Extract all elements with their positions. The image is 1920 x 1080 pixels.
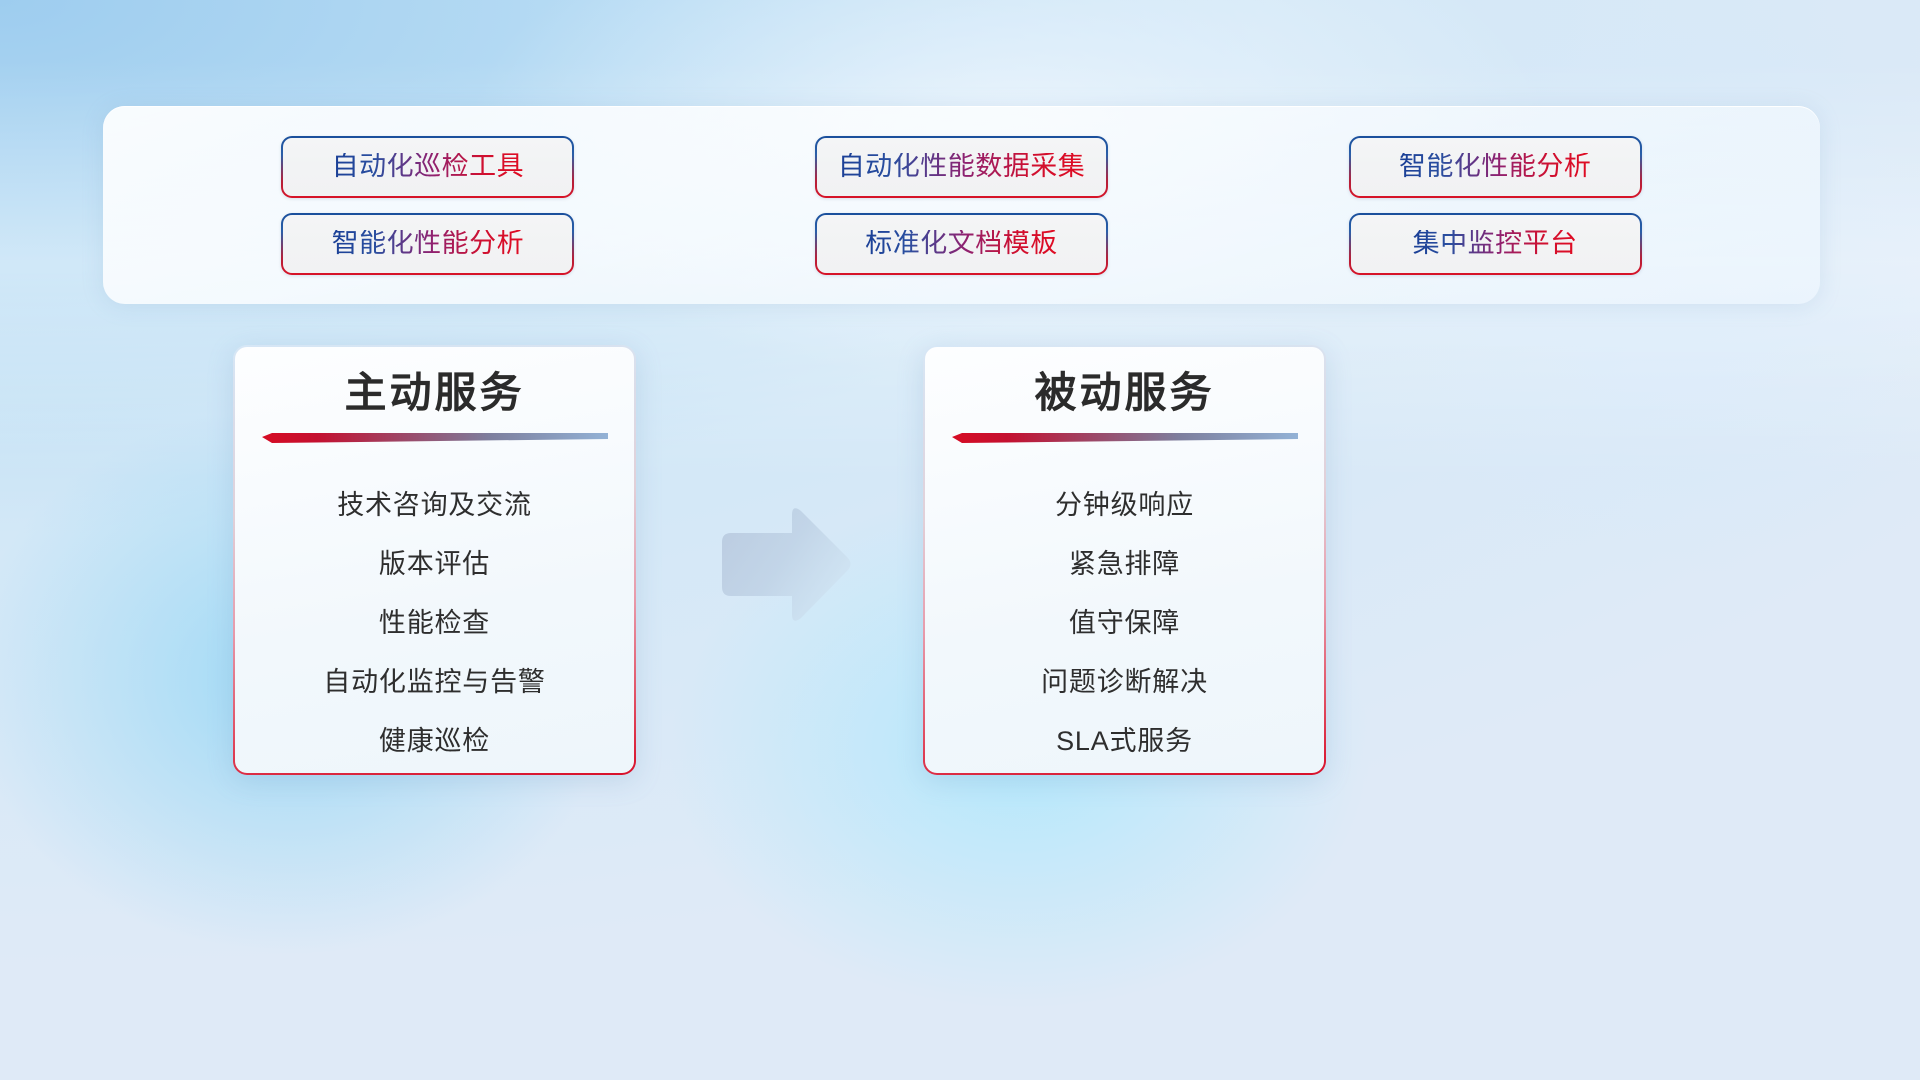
passive-service-list-item-2[interactable]: 紧急排障 <box>1069 532 1180 591</box>
active-service-card[interactable]: 主动服务 技术咨询及交流 版本评估 性能检查 自动化监控与告警 <box>233 345 636 775</box>
capability-pill-5-label: 标准化文档模板 <box>865 230 1058 257</box>
capability-pill-3-inner: 智能化性能分析 <box>1351 138 1640 196</box>
passive-service-list-item-1[interactable]: 分钟级响应 <box>1055 473 1194 532</box>
capability-pill-3-label: 智能化性能分析 <box>1399 153 1592 180</box>
active-service-list-item-3[interactable]: 性能检查 <box>379 591 490 650</box>
capability-pill-5[interactable]: 标准化文档模板 <box>815 213 1108 275</box>
active-service-card-inner: 主动服务 技术咨询及交流 版本评估 性能检查 自动化监控与告警 <box>235 347 634 773</box>
capability-pill-4-inner: 智能化性能分析 <box>283 215 572 273</box>
capability-pill-4[interactable]: 智能化性能分析 <box>281 213 574 275</box>
capability-pill-4-label: 智能化性能分析 <box>332 230 525 257</box>
capability-pill-5-inner: 标准化文档模板 <box>817 215 1106 273</box>
passive-service-card[interactable]: 被动服务 分钟级响应 紧急排障 值守保障 问题诊断解决 <box>923 345 1326 775</box>
passive-service-card-divider <box>952 433 1298 447</box>
right-arrow-icon <box>714 502 854 630</box>
capability-pill-grid: 自动化巡检工具 自动化性能数据采集 智能化性能分析 智能化性能分析 标准化文档模… <box>103 106 1820 304</box>
active-service-list: 技术咨询及交流 版本评估 性能检查 自动化监控与告警 健康巡检 <box>235 473 634 768</box>
passive-service-list: 分钟级响应 紧急排障 值守保障 问题诊断解决 SLA式服务 <box>925 473 1324 768</box>
active-service-list-item-1[interactable]: 技术咨询及交流 <box>337 473 532 532</box>
capability-pill-6-inner: 集中监控平台 <box>1351 215 1640 273</box>
capability-pill-3[interactable]: 智能化性能分析 <box>1349 136 1642 198</box>
capability-pill-6[interactable]: 集中监控平台 <box>1349 213 1642 275</box>
active-service-list-item-4[interactable]: 自动化监控与告警 <box>323 650 545 709</box>
active-service-list-item-5[interactable]: 健康巡检 <box>379 709 490 768</box>
active-service-list-item-2[interactable]: 版本评估 <box>379 532 490 591</box>
capability-pill-1[interactable]: 自动化巡检工具 <box>281 136 574 198</box>
capability-pill-2-inner: 自动化性能数据采集 <box>817 138 1106 196</box>
capability-panel: 自动化巡检工具 自动化性能数据采集 智能化性能分析 智能化性能分析 标准化文档模… <box>103 106 1820 304</box>
passive-service-list-item-5[interactable]: SLA式服务 <box>1056 709 1193 768</box>
active-service-card-divider <box>262 433 608 447</box>
capability-pill-1-label: 自动化巡检工具 <box>332 153 525 180</box>
capability-pill-2[interactable]: 自动化性能数据采集 <box>815 136 1108 198</box>
passive-service-card-title: 被动服务 <box>1034 369 1214 417</box>
capability-pill-2-label: 自动化性能数据采集 <box>838 153 1086 180</box>
capability-pill-6-label: 集中监控平台 <box>1413 230 1578 257</box>
passive-service-list-item-4[interactable]: 问题诊断解决 <box>1041 650 1208 709</box>
capability-pill-1-inner: 自动化巡检工具 <box>283 138 572 196</box>
passive-service-list-item-3[interactable]: 值守保障 <box>1069 591 1180 650</box>
passive-service-card-inner: 被动服务 分钟级响应 紧急排障 值守保障 问题诊断解决 <box>925 347 1324 773</box>
active-service-card-title: 主动服务 <box>344 369 524 417</box>
